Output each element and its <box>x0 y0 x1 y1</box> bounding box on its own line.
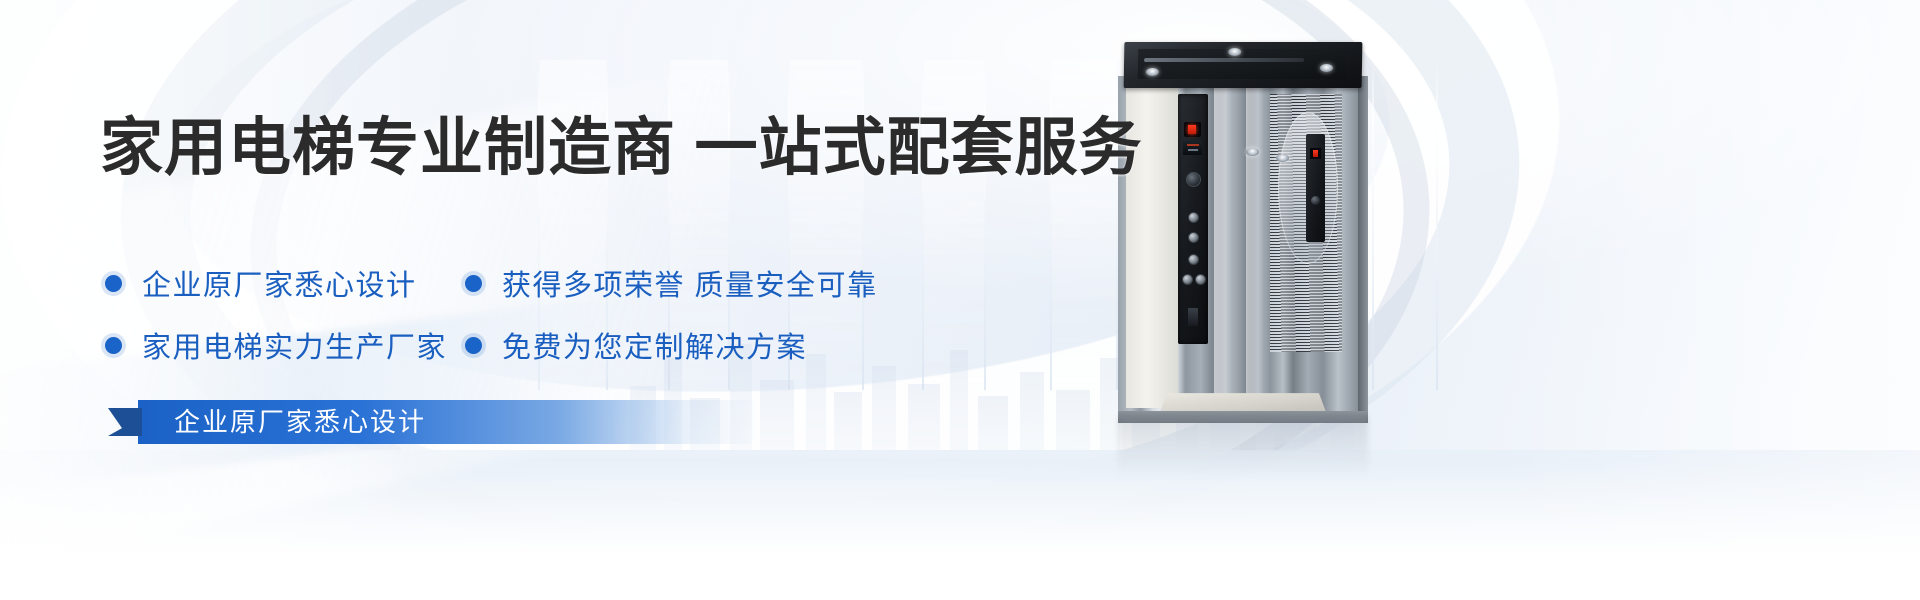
page-title: 家用电梯专业制造商 一站式配套服务 <box>100 110 1143 186</box>
list-item-label: 获得多项荣誉 质量安全可靠 <box>502 262 878 304</box>
bullet-dot-icon <box>105 275 122 292</box>
ribbon-fold-icon <box>108 408 142 436</box>
list-item: 免费为您定制解决方案 <box>465 324 807 366</box>
bullet-dot-icon <box>105 337 122 354</box>
banner-content: 家用电梯专业制造商 一站式配套服务 企业原厂家悉心设计 获得多项荣誉 质量安全可… <box>0 0 1920 600</box>
feature-list: 企业原厂家悉心设计 获得多项荣誉 质量安全可靠 家用电梯实力生产厂家 免费为您定… <box>105 252 1005 376</box>
list-item-label: 企业原厂家悉心设计 <box>142 262 417 304</box>
list-item: 家用电梯实力生产厂家 <box>105 324 465 366</box>
feature-row: 家用电梯实力生产厂家 免费为您定制解决方案 <box>105 314 1005 376</box>
bullet-dot-icon <box>465 337 482 354</box>
list-item-label: 家用电梯实力生产厂家 <box>142 324 447 366</box>
list-item-label: 免费为您定制解决方案 <box>502 324 807 366</box>
highlight-ribbon: 企业原厂家悉心设计 <box>108 400 868 444</box>
bullet-dot-icon <box>465 275 482 292</box>
list-item: 获得多项荣誉 质量安全可靠 <box>465 262 878 304</box>
feature-row: 企业原厂家悉心设计 获得多项荣誉 质量安全可靠 <box>105 252 1005 314</box>
list-item: 企业原厂家悉心设计 <box>105 262 465 304</box>
ribbon-label: 企业原厂家悉心设计 <box>174 400 426 444</box>
promo-banner: 家用电梯专业制造商 一站式配套服务 企业原厂家悉心设计 获得多项荣誉 质量安全可… <box>0 0 1920 600</box>
